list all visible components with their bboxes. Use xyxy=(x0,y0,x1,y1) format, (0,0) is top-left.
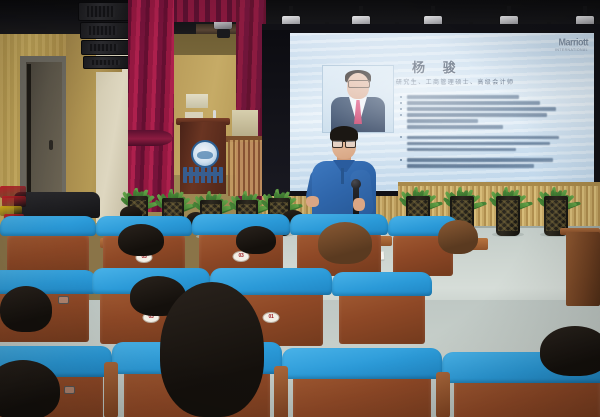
auditorium-seating: 0503010301 xyxy=(0,0,600,417)
seat-number-plate: 01 xyxy=(263,312,280,323)
seat-backrest xyxy=(339,289,425,344)
audience-head xyxy=(118,224,164,256)
audience-head-foreground xyxy=(540,326,600,376)
auditorium-photo: Marriott INTERNATIONAL 杨 骏 研究生、工商管理硕士、高级… xyxy=(0,0,600,417)
seat-armrest xyxy=(274,366,288,417)
audience-head xyxy=(0,286,52,332)
audience-head xyxy=(438,220,478,254)
auditorium-seat[interactable] xyxy=(332,272,432,344)
glasses-icon xyxy=(64,386,75,394)
seat-number-label: 01 xyxy=(269,315,274,320)
audience-head xyxy=(236,226,276,254)
audience-head-longhair xyxy=(318,222,372,264)
seat-armrest xyxy=(104,362,118,417)
seat-armrest xyxy=(436,372,450,417)
seat-headrest xyxy=(332,272,432,296)
glasses-icon xyxy=(58,296,69,304)
seat-number-label: 03 xyxy=(239,254,244,259)
seat-headrest xyxy=(282,348,442,379)
auditorium-seat[interactable] xyxy=(282,348,442,417)
auditorium-seat[interactable] xyxy=(0,216,96,276)
seat-headrest xyxy=(0,216,96,236)
audience-head-foreground xyxy=(160,282,264,417)
